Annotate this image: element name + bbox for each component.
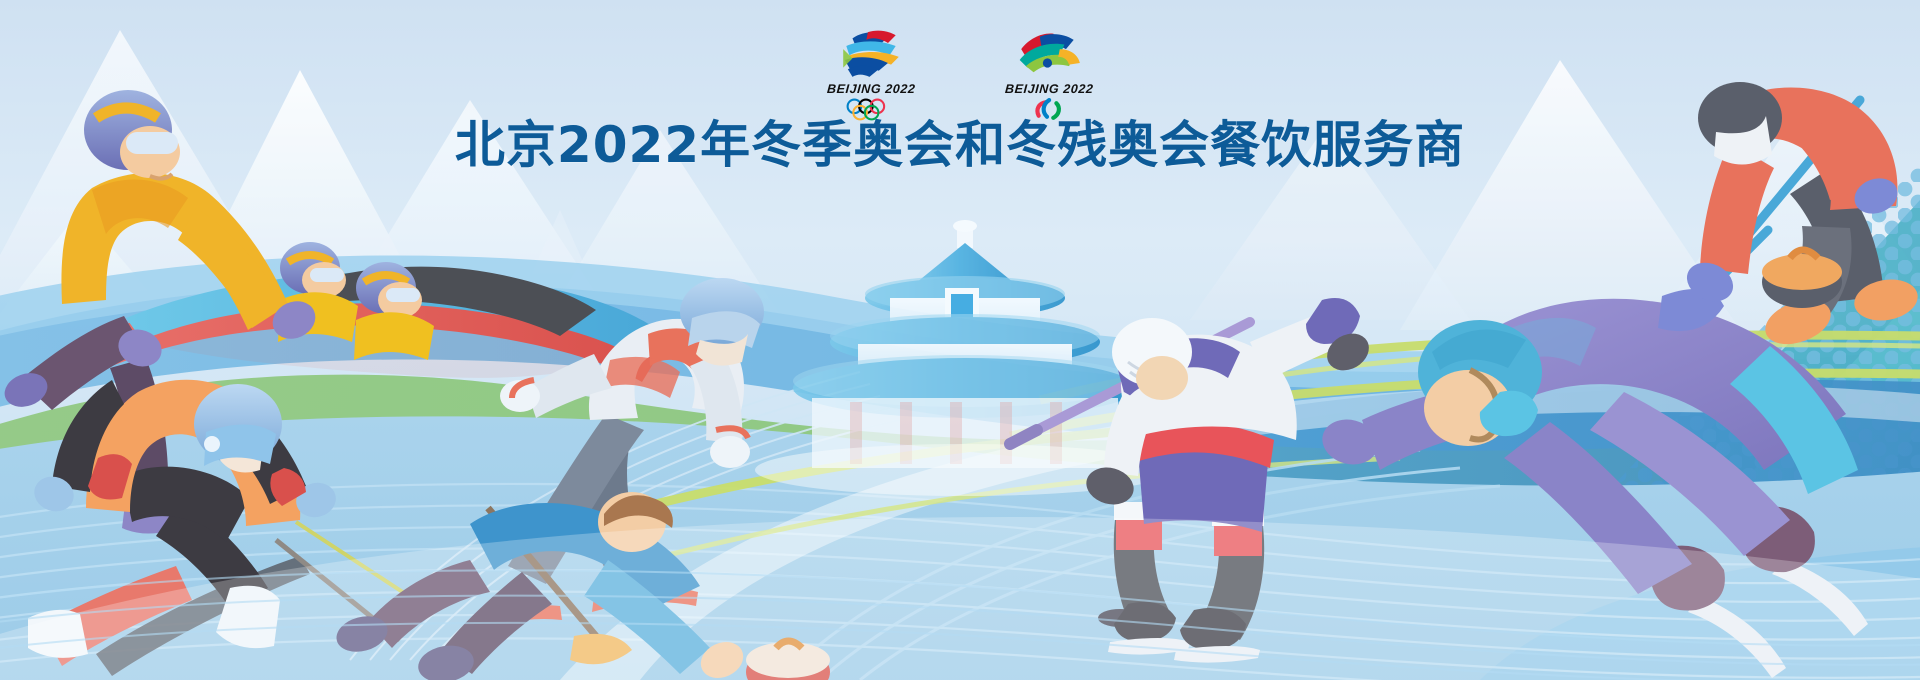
olympic-emblem-block: BEIJING 2022	[811, 26, 931, 122]
beijing-2022-paralympic-emblem	[1001, 26, 1097, 80]
paralympic-emblem-block: BEIJING 2022	[989, 26, 1109, 122]
banner-title: 北京2022年冬季奥会和冬残奥会餐饮服务商	[0, 118, 1920, 173]
paralympic-wordmark: BEIJING 2022	[1004, 82, 1093, 96]
olympic-banner: BEIJING 2022 BEIJING 2022	[0, 0, 1920, 680]
soft-highlight-sweep	[0, 517, 1920, 680]
beijing-2022-olympic-emblem	[823, 26, 919, 80]
emblem-row: BEIJING 2022 BEIJING 2022	[0, 26, 1920, 122]
olympic-wordmark: BEIJING 2022	[826, 82, 915, 96]
